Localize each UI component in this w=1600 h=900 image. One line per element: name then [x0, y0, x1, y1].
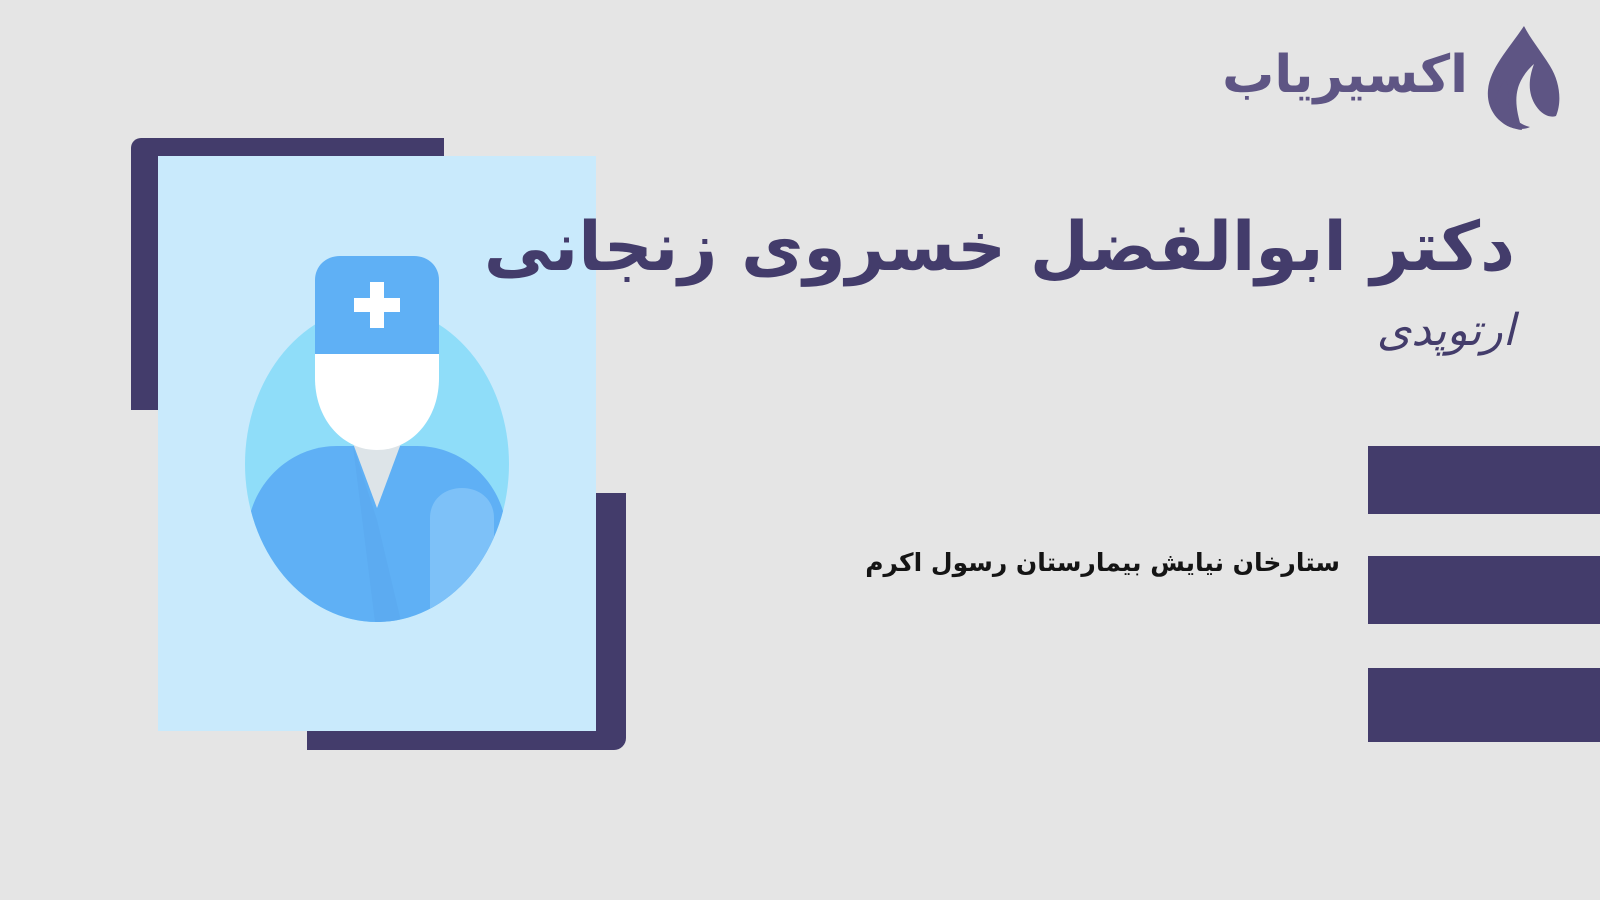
brand-name: اکسیریاب [1222, 49, 1468, 107]
clinic-address: ستارخان نیایش بیمارستان رسول اکرم [865, 545, 1340, 580]
poster-canvas: اکسیریاب [0, 0, 1600, 900]
doctor-info: دکتر ابوالفضل خسروی زنجانی ارتوپدی [535, 208, 1515, 359]
doctor-speciality: ارتوپدی [535, 302, 1515, 359]
decorative-bars [1368, 446, 1600, 746]
brand-logo[interactable]: اکسیریاب [1222, 24, 1564, 132]
decorative-bar-2 [1368, 556, 1600, 624]
decorative-bar-1 [1368, 446, 1600, 514]
decorative-bar-3 [1368, 668, 1600, 742]
flame-droplet-icon [1478, 24, 1564, 132]
doctor-name: دکتر ابوالفضل خسروی زنجانی [535, 208, 1515, 288]
